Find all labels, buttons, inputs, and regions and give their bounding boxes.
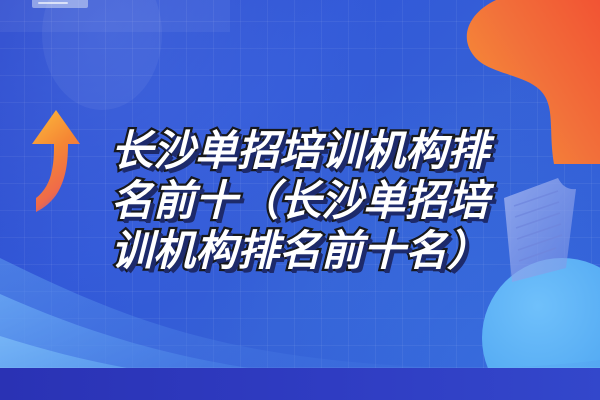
- headline-line-2: 名前十（长沙单招培: [0, 176, 600, 226]
- page-title: 长沙单招培训机构排 名前十（长沙单招培 训机构排名前十名）: [0, 126, 600, 276]
- top-left-plate: [32, 0, 88, 8]
- headline-line-3: 训机构排名前十名）: [0, 226, 600, 276]
- headline-line-1: 长沙单招培训机构排: [0, 126, 600, 176]
- bottom-strip: [0, 368, 600, 400]
- poster-canvas: 长沙单招培训机构排 名前十（长沙单招培 训机构排名前十名）: [0, 0, 600, 400]
